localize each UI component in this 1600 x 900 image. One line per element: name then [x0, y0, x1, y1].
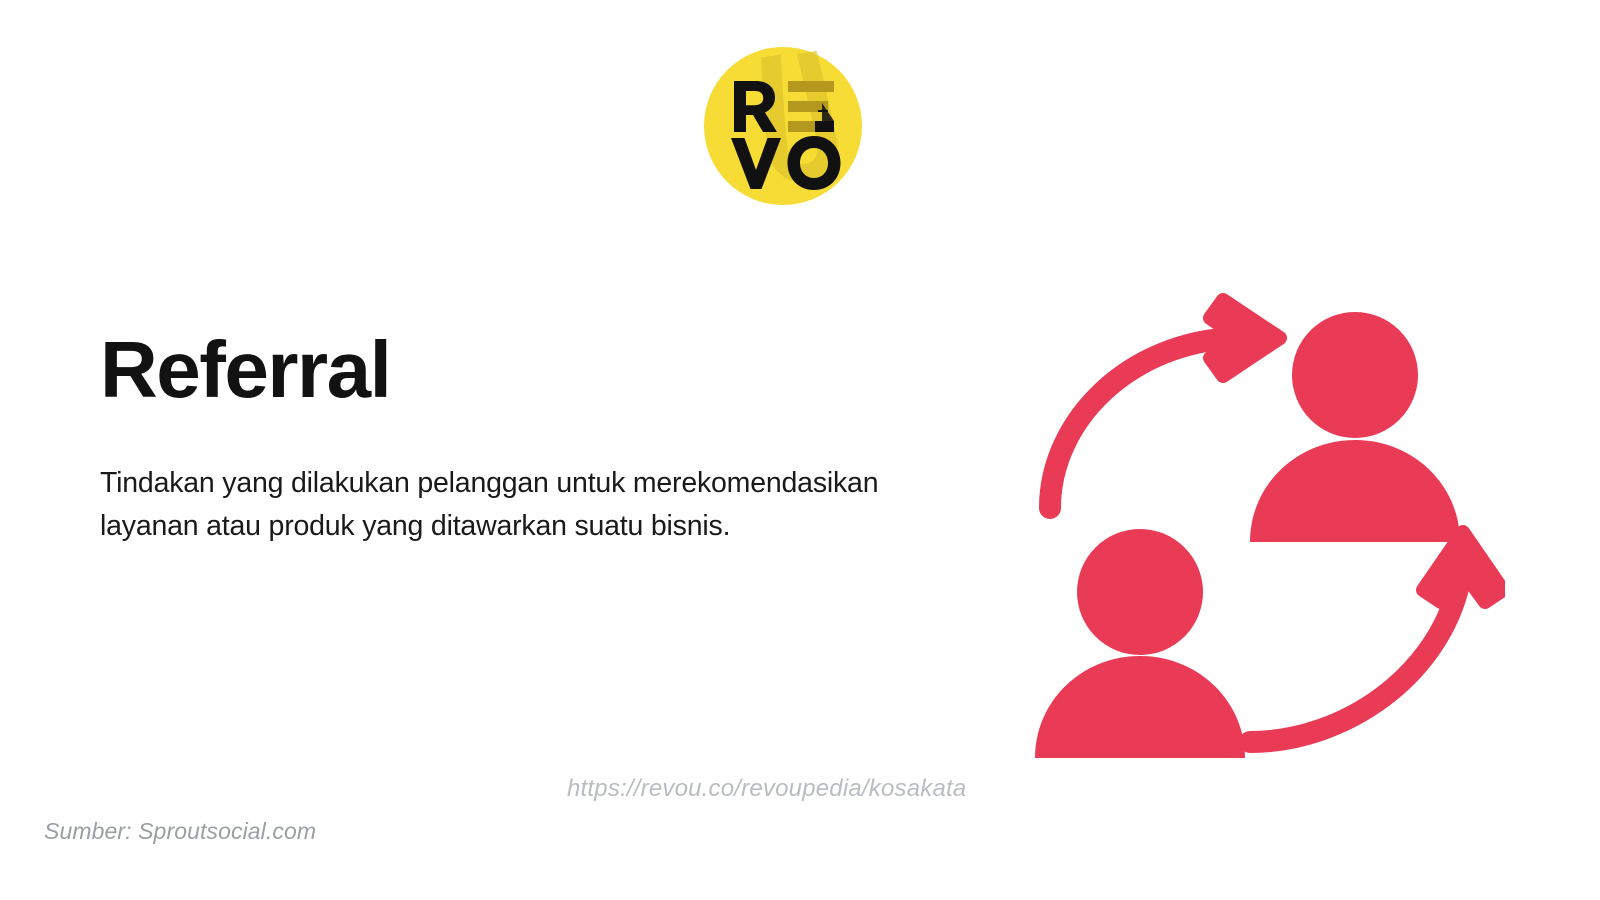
- page-description: Tindakan yang dilakukan pelanggan untuk …: [100, 462, 900, 548]
- slide-canvas: Referral Tindakan yang dilakukan pelangg…: [0, 0, 1600, 900]
- person-bottom-left: [1035, 529, 1245, 758]
- source-attribution: Sumber: Sproutsocial.com: [44, 818, 316, 845]
- text-block: Referral Tindakan yang dilakukan pelangg…: [100, 330, 920, 548]
- person-top-right: [1250, 312, 1460, 542]
- revoupedia-url[interactable]: https://revou.co/revoupedia/kosakata: [567, 775, 966, 803]
- logo-letter-e: [788, 81, 834, 132]
- referral-illustration: [995, 280, 1505, 770]
- arrow-bottom-clockwise: [1250, 532, 1503, 742]
- revou-logo: [704, 47, 862, 205]
- arrow-top-clockwise: [1050, 300, 1280, 508]
- page-title: Referral: [100, 330, 920, 410]
